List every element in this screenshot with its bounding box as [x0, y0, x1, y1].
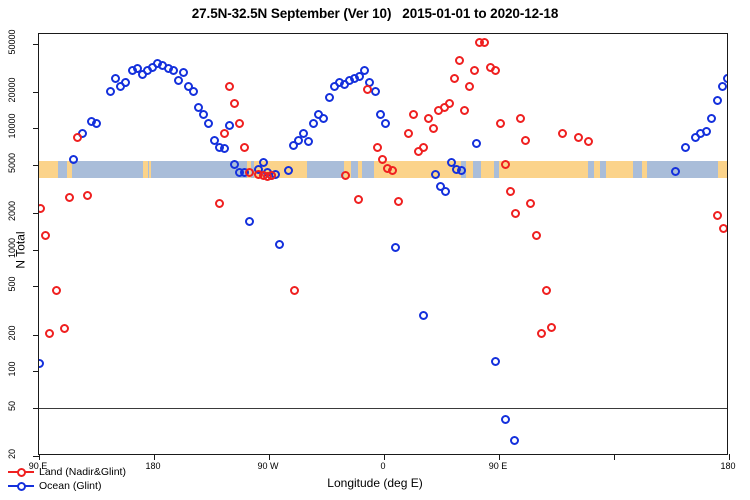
data-point-ocean: [309, 119, 318, 128]
land-mask-segment: [499, 161, 588, 178]
y-axis-tick-label: 100: [7, 350, 17, 388]
land-mask-segment: [149, 161, 152, 178]
data-point-ocean: [275, 240, 284, 249]
plot-area: 2050100200500100020005000100002000050000: [38, 33, 728, 455]
data-point-ocean: [39, 359, 44, 368]
legend-label: Land (Nadir&Glint): [39, 466, 126, 479]
data-point-ocean: [371, 87, 380, 96]
data-point-land: [394, 197, 403, 206]
data-point-ocean: [472, 139, 481, 148]
land-mask-segment: [358, 161, 362, 178]
y-axis-tick: [33, 165, 39, 166]
data-point-land: [455, 56, 464, 65]
data-point-ocean: [713, 96, 722, 105]
data-point-land: [60, 324, 69, 333]
data-point-ocean: [92, 119, 101, 128]
data-point-land: [73, 133, 82, 142]
data-point-land: [419, 143, 428, 152]
x-axis-tick-label: 0: [380, 461, 385, 471]
data-point-ocean: [501, 415, 510, 424]
data-point-ocean: [199, 110, 208, 119]
y-axis-tick: [33, 44, 39, 45]
data-point-land: [516, 114, 525, 123]
data-point-land: [496, 119, 505, 128]
data-point-ocean: [376, 110, 385, 119]
data-point-ocean: [441, 187, 450, 196]
x-axis-tick-label: 90 E: [489, 461, 508, 471]
data-point-land: [506, 187, 515, 196]
data-point-ocean: [671, 167, 680, 176]
data-point-land: [341, 171, 350, 180]
data-point-ocean: [681, 143, 690, 152]
data-point-land: [354, 195, 363, 204]
data-point-land: [480, 38, 489, 47]
data-point-land: [290, 286, 299, 295]
data-point-ocean: [707, 114, 716, 123]
legend-marker-ocean-icon: [8, 481, 34, 492]
y-axis-tick-label: 500: [7, 265, 17, 303]
data-point-land: [537, 329, 546, 338]
data-point-land: [542, 286, 551, 295]
data-point-land: [45, 329, 54, 338]
data-point-land: [363, 85, 372, 94]
data-point-land: [230, 99, 239, 108]
data-point-ocean: [431, 170, 440, 179]
data-point-land: [526, 199, 535, 208]
data-point-land: [465, 82, 474, 91]
legend: Land (Nadir&Glint)Ocean (Glint): [4, 462, 132, 496]
y-axis-tick: [33, 408, 39, 409]
data-point-land: [713, 211, 722, 220]
data-point-ocean: [220, 144, 229, 153]
y-axis-tick: [33, 286, 39, 287]
y-axis-tick-label: 10000: [7, 107, 17, 145]
land-mask-segment: [718, 161, 728, 178]
data-point-ocean: [69, 155, 78, 164]
reference-line: [39, 408, 727, 409]
data-point-land: [558, 129, 567, 138]
data-point-land: [404, 129, 413, 138]
data-point-land: [41, 231, 50, 240]
y-axis-tick: [33, 213, 39, 214]
data-point-land: [491, 66, 500, 75]
data-point-land: [521, 136, 530, 145]
x-axis-tick-label: 90 E: [29, 461, 48, 471]
x-axis-tick-label: 180: [720, 461, 735, 471]
data-point-land: [547, 323, 556, 332]
data-point-land: [52, 286, 61, 295]
land-mask-segment: [143, 161, 148, 178]
land-mask-segment: [481, 161, 494, 178]
y-axis-tick-label: 20000: [7, 71, 17, 109]
data-point-ocean: [381, 119, 390, 128]
data-point-land: [39, 204, 45, 213]
land-mask-segment: [606, 161, 614, 178]
x-axis-tick: [729, 454, 730, 460]
data-point-ocean: [179, 68, 188, 77]
legend-item: Land (Nadir&Glint): [8, 465, 126, 479]
data-point-ocean: [121, 78, 130, 87]
data-point-ocean: [391, 243, 400, 252]
x-axis-tick: [499, 454, 500, 460]
y-axis-tick-label: 50: [7, 387, 17, 425]
x-axis-tick: [269, 454, 270, 460]
y-axis-tick: [33, 335, 39, 336]
data-point-ocean: [419, 311, 428, 320]
data-point-ocean: [284, 166, 293, 175]
data-point-ocean: [106, 87, 115, 96]
y-axis-tick-label: 5000: [7, 144, 17, 182]
land-mask-segment: [614, 161, 633, 178]
x-axis-tick: [614, 454, 615, 460]
data-point-land: [429, 124, 438, 133]
data-point-ocean: [111, 74, 120, 83]
data-point-land: [240, 143, 249, 152]
y-axis-label: N Total: [14, 231, 28, 268]
x-axis-tick: [39, 454, 40, 460]
y-axis-tick: [33, 128, 39, 129]
chart-title: 27.5N-32.5N September (Ver 10) 2015-01-0…: [0, 6, 750, 21]
data-point-land: [584, 137, 593, 146]
data-point-ocean: [174, 76, 183, 85]
data-point-ocean: [169, 66, 178, 75]
data-point-land: [460, 106, 469, 115]
data-point-ocean: [510, 436, 519, 445]
data-point-land: [267, 171, 276, 180]
data-point-ocean: [319, 114, 328, 123]
data-point-land: [424, 114, 433, 123]
data-point-land: [235, 119, 244, 128]
data-point-ocean: [723, 74, 727, 83]
data-point-land: [532, 231, 541, 240]
y-axis-tick-label: 2000: [7, 192, 17, 230]
data-point-land: [373, 143, 382, 152]
data-point-ocean: [304, 137, 313, 146]
data-point-land: [719, 224, 727, 233]
data-point-ocean: [491, 357, 500, 366]
data-point-land: [450, 74, 459, 83]
data-point-land: [470, 66, 479, 75]
data-point-land: [445, 99, 454, 108]
land-mask-segment: [39, 161, 58, 178]
legend-item: Ocean (Glint): [8, 479, 126, 493]
y-axis-tick-label: 50000: [7, 23, 17, 61]
y-axis-tick: [33, 371, 39, 372]
y-axis-tick: [33, 250, 39, 251]
data-point-ocean: [245, 217, 254, 226]
land-mask-segment: [466, 161, 474, 178]
x-axis-tick: [154, 454, 155, 460]
data-point-land: [65, 193, 74, 202]
x-axis-tick-label: 90 W: [257, 461, 278, 471]
data-point-land: [574, 133, 583, 142]
y-axis-tick: [33, 92, 39, 93]
land-mask-segment: [642, 161, 647, 178]
data-point-land: [225, 82, 234, 91]
data-point-ocean: [325, 93, 334, 102]
data-point-land: [220, 129, 229, 138]
y-axis-tick-label: 200: [7, 314, 17, 352]
plot-canvas: [39, 34, 727, 454]
data-point-ocean: [702, 127, 711, 136]
data-point-land: [215, 199, 224, 208]
data-point-land: [409, 110, 418, 119]
data-point-ocean: [189, 87, 198, 96]
data-point-ocean: [718, 82, 727, 91]
data-point-ocean: [204, 119, 213, 128]
x-axis-tick-label: 180: [145, 461, 160, 471]
data-point-land: [83, 191, 92, 200]
legend-label: Ocean (Glint): [39, 480, 101, 493]
land-mask-segment: [594, 161, 600, 178]
data-point-land: [511, 209, 520, 218]
x-axis-tick: [384, 454, 385, 460]
data-point-ocean: [360, 66, 369, 75]
